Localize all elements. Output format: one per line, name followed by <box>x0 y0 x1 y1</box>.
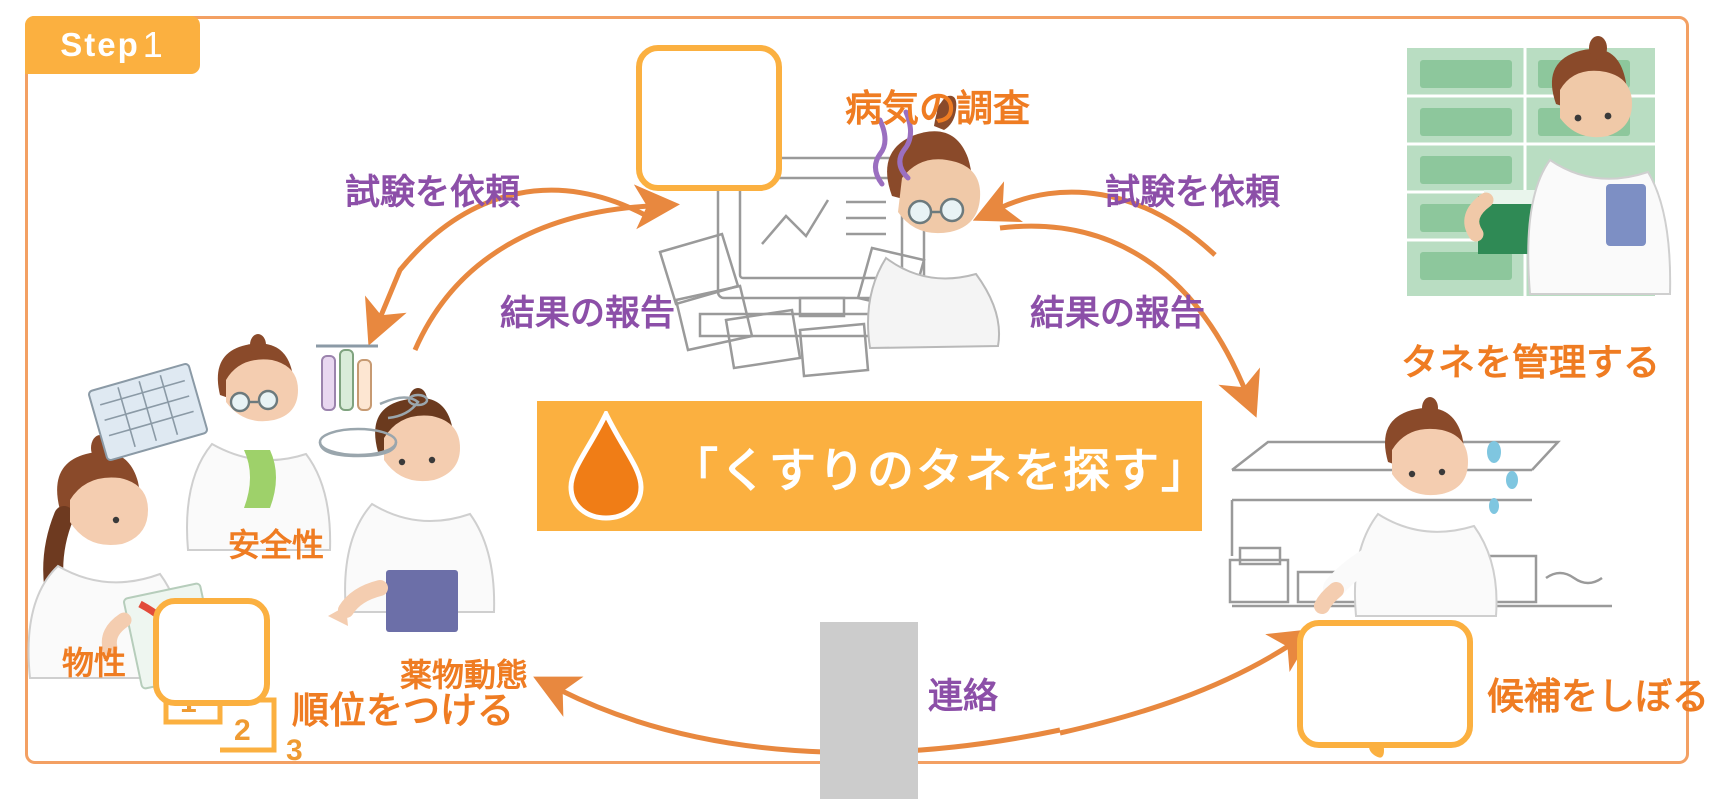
label-category-busshitsu: 物性 <box>62 638 126 684</box>
center-banner-text: 「くすりのタネを探す」 <box>671 432 1210 501</box>
step-badge: Step1 <box>25 16 200 74</box>
label-report-result-left: 結果の報告 <box>500 285 675 336</box>
label-report-result-right: 結果の報告 <box>1030 285 1205 336</box>
label-category-yakubutsu: 薬物動態 <box>400 650 528 696</box>
label-request-test-right: 試験を依頼 <box>1105 164 1280 215</box>
label-narrow-candidates: 候補をしぼる <box>1487 666 1709 720</box>
step-badge-label: Step <box>60 26 140 64</box>
step-badge-number: 1 <box>143 24 165 66</box>
funnel-icon-frame <box>1297 620 1473 748</box>
bottom-grey-bar <box>820 622 918 799</box>
water-drop-icon <box>567 411 645 521</box>
open-book-icon-frame <box>636 45 782 191</box>
label-disease-survey: 病気の調査 <box>845 78 1030 132</box>
label-contact-bottom: 連絡 <box>928 668 998 719</box>
label-category-anzensei: 安全性 <box>228 520 324 566</box>
ranking-icon-frame <box>153 598 270 706</box>
label-seed-management: タネを管理する <box>1401 332 1660 386</box>
label-request-test-left: 試験を依頼 <box>345 164 520 215</box>
center-banner: 「くすりのタネを探す」 <box>537 401 1202 531</box>
